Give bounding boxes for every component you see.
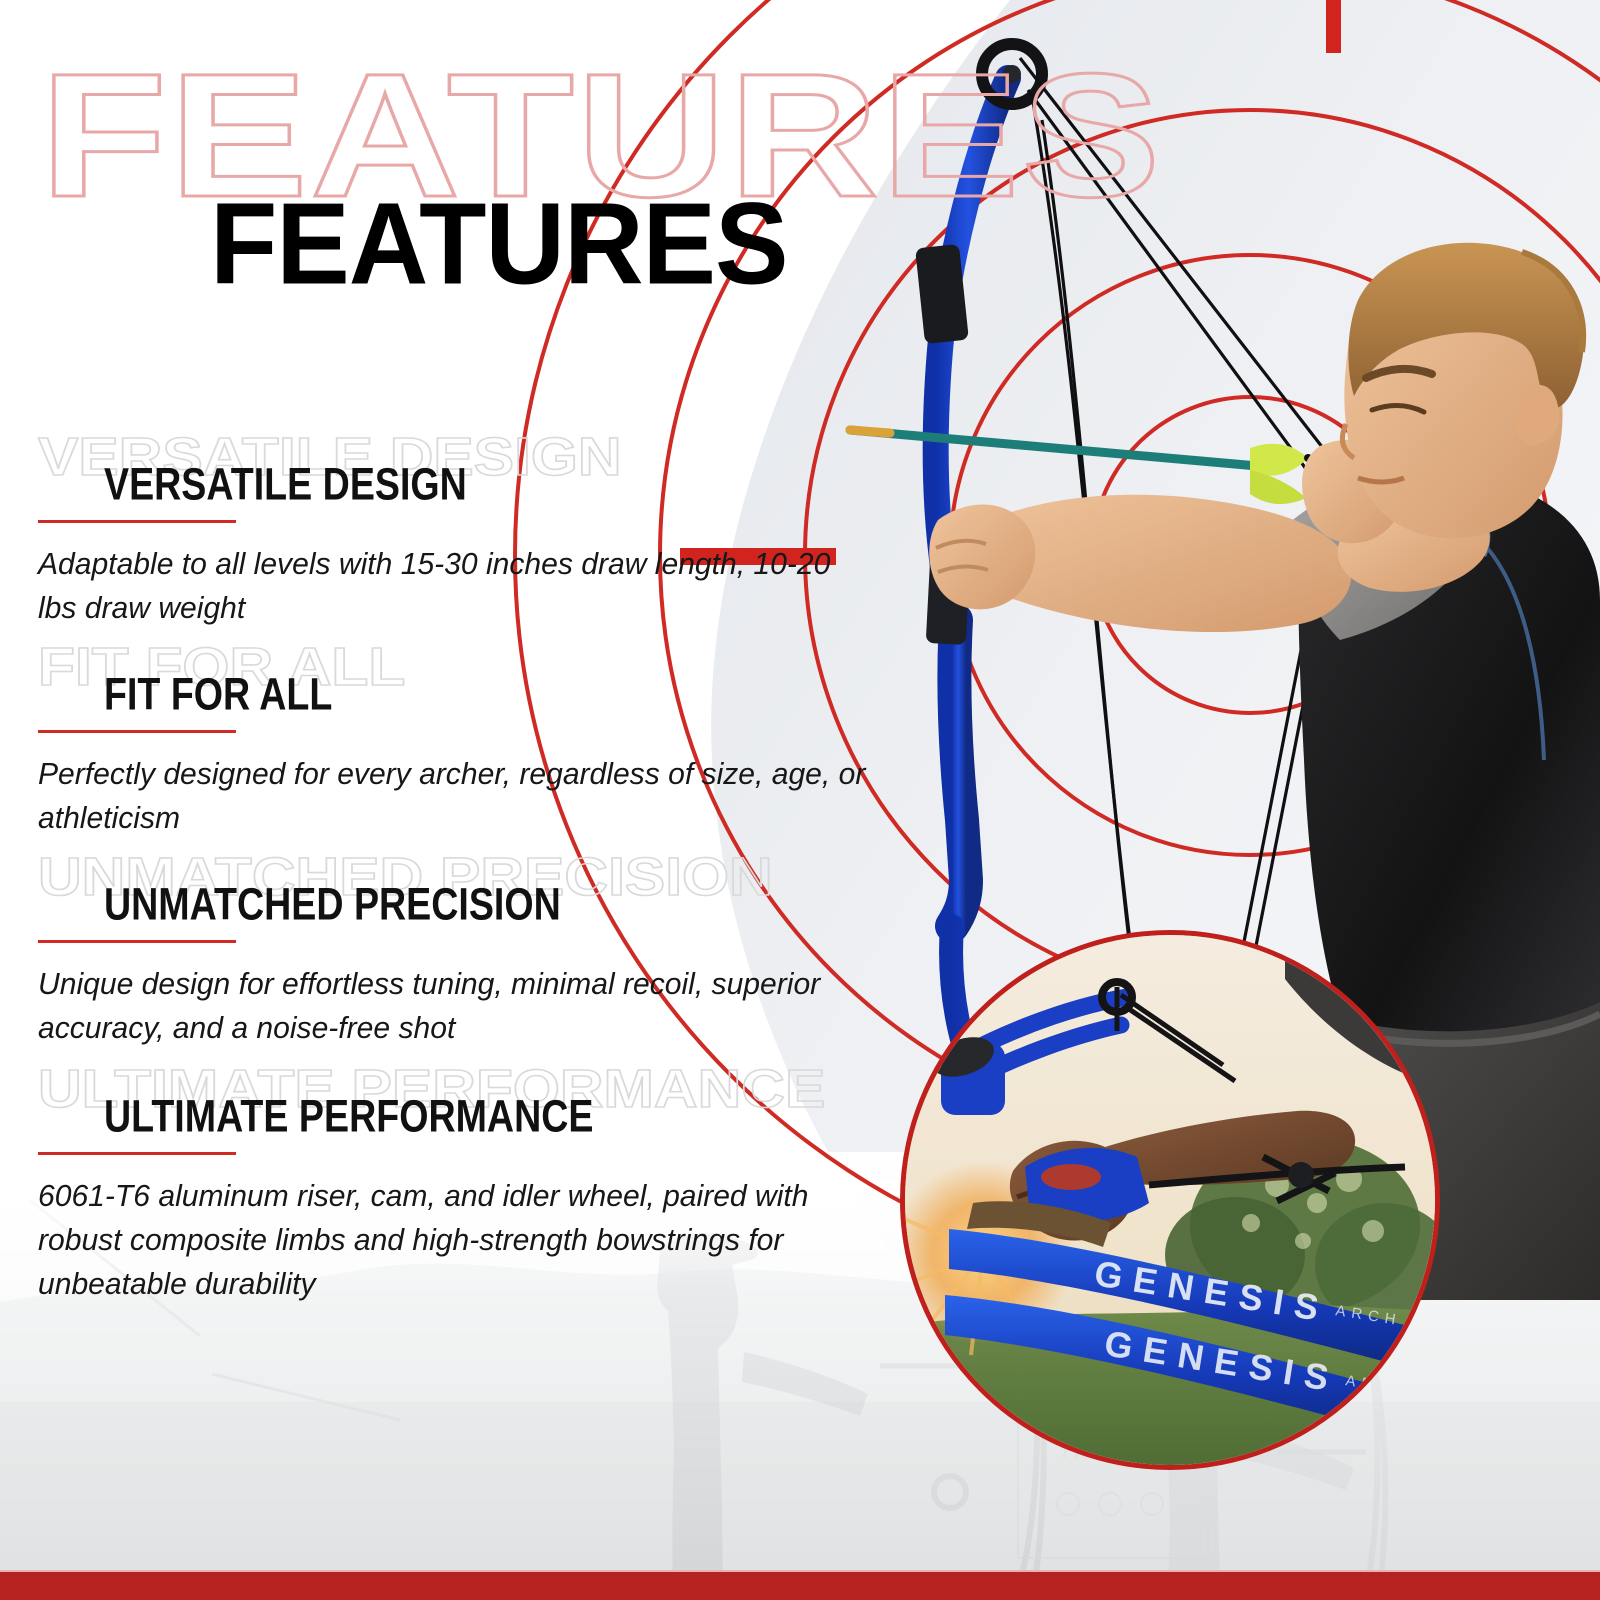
feature-body-text: Unique design for effortless tuning, min… bbox=[38, 962, 872, 1050]
feature-underline bbox=[38, 730, 236, 733]
feature-heading: ULTIMATE PERFORMANCE bbox=[104, 1094, 593, 1140]
page-title-block: FEATURES FEATURES bbox=[0, 0, 1180, 300]
feature-body-text: Adaptable to all levels with 15-30 inche… bbox=[38, 542, 872, 630]
product-closeup-inset-photo: GENESIS ARCH GENESIS AR bbox=[900, 930, 1440, 1470]
feature-heading: VERSATILE DESIGN bbox=[104, 462, 467, 508]
feature-body-text: Perfectly designed for every archer, reg… bbox=[38, 752, 872, 840]
feature-heading: FIT FOR ALL bbox=[104, 672, 332, 718]
page-title: FEATURES bbox=[210, 186, 787, 302]
crosshair-tick-top-icon bbox=[1326, 0, 1341, 53]
feature-underline bbox=[38, 940, 236, 943]
feature-body-text: 6061-T6 aluminum riser, cam, and idler w… bbox=[38, 1174, 872, 1306]
feature-underline bbox=[38, 520, 236, 523]
bottom-accent-bar bbox=[0, 1572, 1600, 1600]
feature-heading: UNMATCHED PRECISION bbox=[104, 882, 561, 928]
feature-underline bbox=[38, 1152, 236, 1155]
